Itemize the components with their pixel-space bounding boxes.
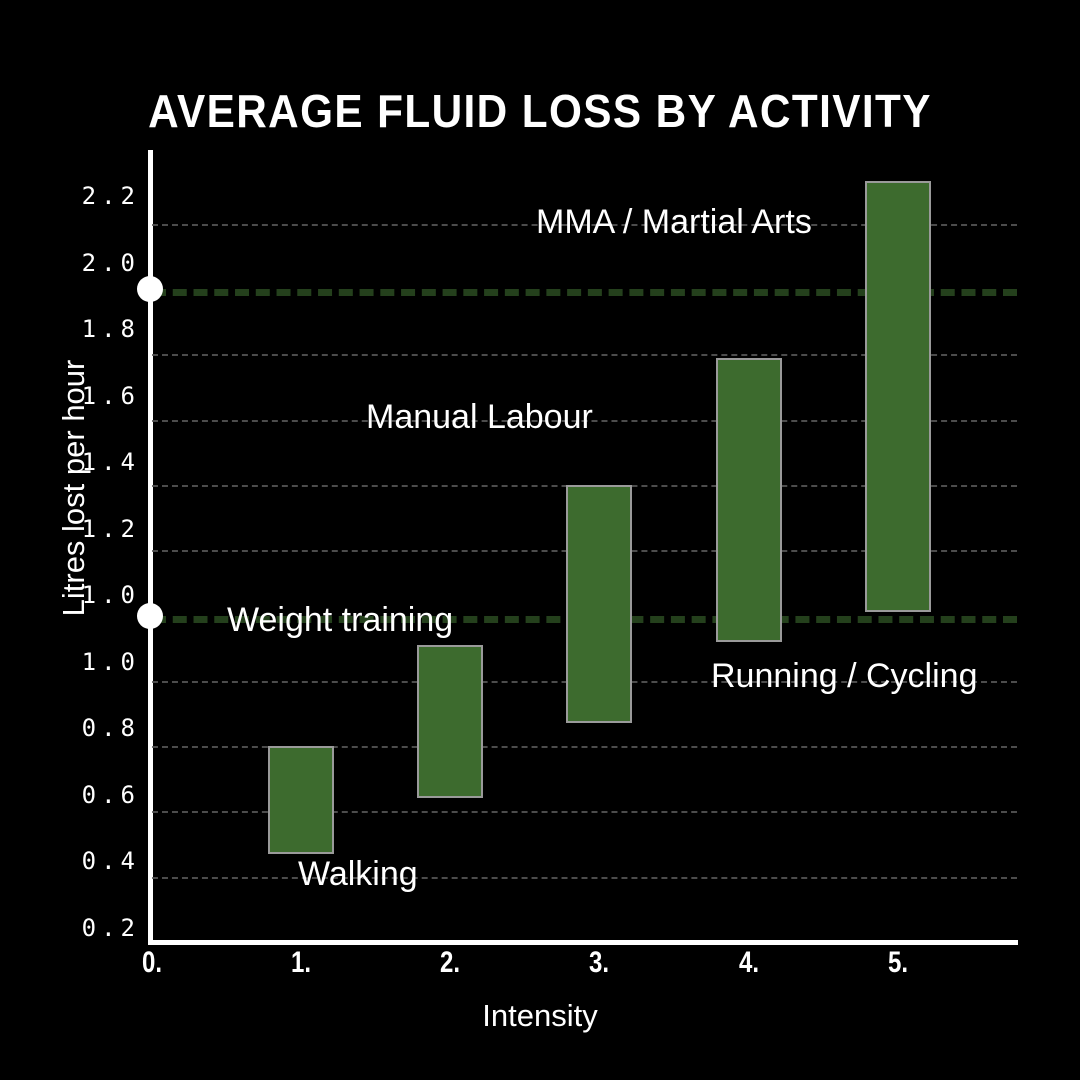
gridline xyxy=(152,877,1017,879)
x-axis-tick-label: 5. xyxy=(888,946,908,980)
y-axis-tick-label: 0.2 xyxy=(82,914,140,942)
series-label-weight-training: Weight training xyxy=(227,601,453,640)
bar-mma-martial-arts[interactable] xyxy=(865,181,931,612)
y-axis-title: Litres lost per hour xyxy=(56,328,92,648)
x-axis-tick-label: 0. xyxy=(142,946,162,980)
plot-area xyxy=(152,152,1017,942)
bar-weight-training[interactable] xyxy=(417,645,483,798)
y-axis-tick-label: 0.6 xyxy=(82,781,140,809)
chart-title: AVERAGE FLUID LOSS BY ACTIVITY xyxy=(43,84,1037,138)
y-axis-tick-label: 0.4 xyxy=(82,847,140,875)
y-axis-marker-dot xyxy=(137,276,163,302)
series-label-running-cycling: Running / Cycling xyxy=(711,657,977,696)
y-axis-tick-label: 0.8 xyxy=(82,714,140,742)
x-axis-tick-label: 4. xyxy=(739,946,759,980)
y-axis-tick-label: 1.0 xyxy=(82,648,140,676)
x-axis-tick-label: 3. xyxy=(589,946,609,980)
bar-manual-labour[interactable] xyxy=(566,485,632,723)
x-axis-title: Intensity xyxy=(0,998,1080,1034)
series-label-manual-labour: Manual Labour xyxy=(366,398,593,437)
bar-walking[interactable] xyxy=(268,746,334,854)
series-label-walking: Walking xyxy=(298,855,418,894)
chart-canvas: AVERAGE FLUID LOSS BY ACTIVITY 2.22.01.8… xyxy=(0,0,1080,1080)
series-label-mma-martial-arts: MMA / Martial Arts xyxy=(536,203,812,242)
y-axis-marker-dot xyxy=(137,603,163,629)
bar-running-cycling[interactable] xyxy=(716,358,782,642)
y-axis-tick-label: 2.0 xyxy=(82,249,140,277)
x-axis-tick-label: 2. xyxy=(440,946,460,980)
x-axis-tick-label: 1. xyxy=(291,946,311,980)
y-axis-tick-label: 2.2 xyxy=(82,182,140,210)
